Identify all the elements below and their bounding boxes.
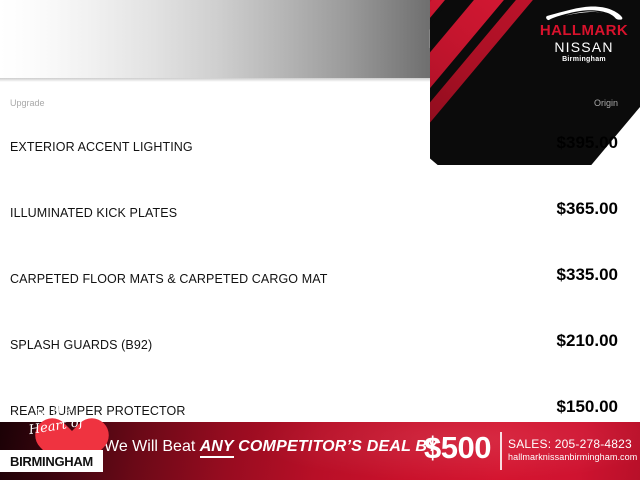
table-row: EXTERIOR ACCENT LIGHTING $395.00	[0, 122, 640, 188]
page-title: Included O	[300, 24, 560, 55]
table-column-headers: Upgrade Origin	[0, 98, 640, 114]
dealer-website[interactable]: hallmarknissanbirmingham.com	[508, 452, 637, 462]
column-header-upgrade: Upgrade	[10, 98, 45, 108]
promo-amount: $500	[424, 430, 491, 466]
upgrade-price: $210.00	[557, 331, 618, 351]
upgrade-name: EXTERIOR ACCENT LIGHTING	[10, 140, 193, 154]
logo-brand-text: HALLMARK	[536, 23, 632, 38]
upgrade-price: $150.00	[557, 397, 618, 417]
flyer-page: Included O HALLMARK NISSAN Birmingham Up…	[0, 0, 640, 480]
column-header-original-price: Origin	[594, 98, 618, 108]
promo-lead: We Will Beat	[104, 438, 200, 455]
table-row: SPLASH GUARDS (B92) $210.00	[0, 320, 640, 386]
dealer-logo: HALLMARK NISSAN Birmingham	[536, 4, 632, 63]
upgrade-name: ILLUMINATED KICK PLATES	[10, 206, 177, 220]
sales-phone[interactable]: SALES: 205-278-4823	[508, 437, 632, 451]
upgrade-name: CARPETED FLOOR MATS & CARPETED CARGO MAT	[10, 272, 327, 286]
table-row: CARPETED FLOOR MATS & CARPETED CARGO MAT…	[0, 254, 640, 320]
in-the-heart-of-birmingham-badge: In the Heart of BIRMINGHAM	[8, 396, 108, 474]
upgrade-name: SPLASH GUARDS (B92)	[10, 338, 152, 352]
banner-divider	[500, 432, 502, 470]
table-row: ILLUMINATED KICK PLATES $365.00	[0, 188, 640, 254]
birmingham-label: BIRMINGHAM	[0, 454, 103, 469]
logo-city-text: Birmingham	[536, 56, 632, 63]
header-shadow	[0, 78, 640, 82]
upgrade-price: $395.00	[557, 133, 618, 153]
logo-make-text: NISSAN	[536, 40, 632, 54]
car-silhouette-icon	[545, 4, 623, 24]
promo-any-word: ANY	[200, 438, 234, 458]
upgrade-price: $335.00	[557, 265, 618, 285]
promo-rest: COMPETITOR’S DEAL BY	[234, 438, 439, 455]
promo-headline: We Will Beat ANY COMPETITOR’S DEAL BY	[104, 438, 438, 456]
birmingham-bar: BIRMINGHAM	[0, 450, 103, 472]
upgrade-price: $365.00	[557, 199, 618, 219]
